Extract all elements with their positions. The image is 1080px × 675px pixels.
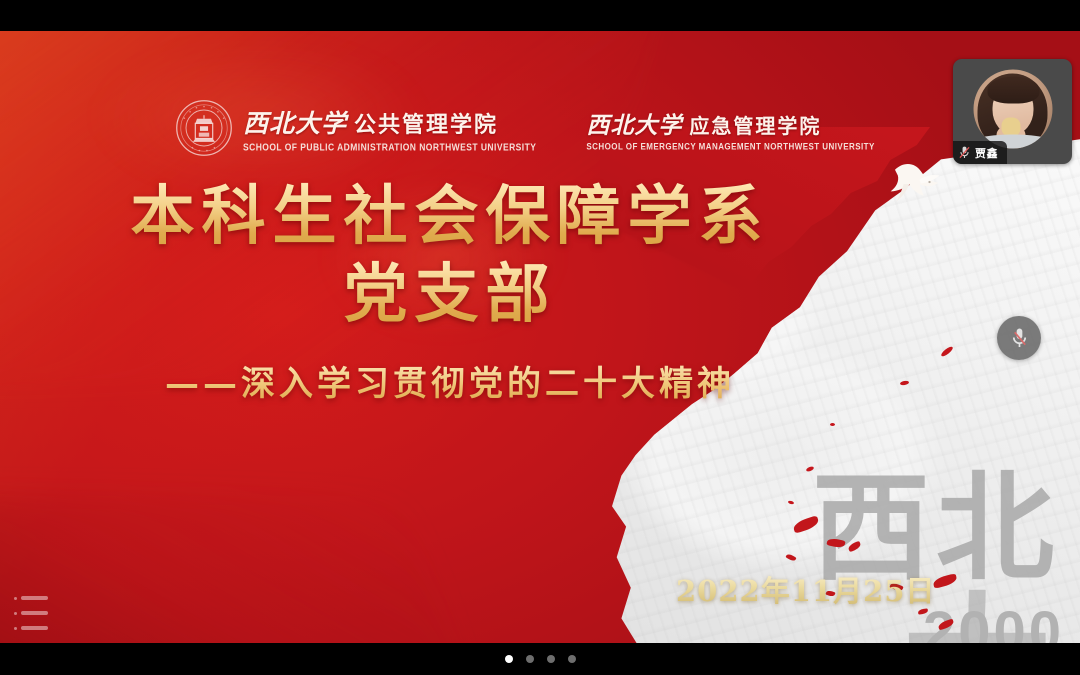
list-view-icon[interactable] [14, 596, 56, 630]
logo-english-name: SCHOOL OF PUBLIC ADMINISTRATION NORTHWES… [243, 141, 536, 153]
page-dot-active[interactable] [505, 655, 513, 663]
page-dot[interactable] [547, 655, 555, 663]
logo-university-name: 西北大学 [243, 104, 347, 140]
screen-root: 西北 大 2000 [0, 0, 1080, 675]
self-view-tile[interactable]: 贾鑫 [953, 59, 1072, 164]
mic-toggle-button[interactable] [997, 316, 1041, 360]
participant-name: 贾鑫 [975, 145, 998, 161]
page-dot[interactable] [568, 655, 576, 663]
avatar [973, 70, 1052, 149]
avatar-fringe [987, 76, 1039, 103]
dove-icon [882, 151, 954, 213]
logo-english-name: SCHOOL OF EMERGENCY MANAGEMENT NORTHWEST… [586, 141, 874, 151]
list-icon-row [14, 611, 56, 615]
slide-title-line-2: 党支部 [0, 259, 900, 331]
slide-subtitle: ——深入学习贯彻党的二十大精神 [0, 356, 900, 405]
logo-public-administration: 西北大学 公共管理学院 SCHOOL OF PUBLIC ADMINISTRAT… [175, 99, 536, 157]
university-seal-icon [175, 99, 233, 157]
logo-school-name: 应急管理学院 [689, 110, 821, 139]
page-indicator-dots[interactable] [0, 655, 1080, 663]
logo-university-name: 西北大学 [586, 106, 682, 140]
slide-title-line-1: 本科生社会保障学系 [0, 181, 900, 253]
list-icon-row [14, 596, 56, 600]
avatar-food [1001, 117, 1020, 136]
logo-school-name: 公共管理学院 [354, 107, 498, 139]
list-icon-row [14, 626, 56, 630]
slide-date: 2022年11月25日 [676, 568, 935, 610]
presentation-slide[interactable]: 西北 大 2000 [0, 31, 1080, 643]
slide-title-group: 本科生社会保障学系 党支部 ——深入学习贯彻党的二十大精神 [0, 181, 900, 405]
page-dot[interactable] [526, 655, 534, 663]
participant-name-chip: 贾鑫 [953, 141, 1007, 164]
microphone-muted-icon [1010, 326, 1029, 350]
ink-splatter-fleck [830, 423, 835, 426]
logo-text-group: 西北大学 公共管理学院 SCHOOL OF PUBLIC ADMINISTRAT… [243, 104, 536, 152]
microphone-muted-icon [958, 145, 971, 160]
logo-row: 西北大学 公共管理学院 SCHOOL OF PUBLIC ADMINISTRAT… [175, 99, 875, 157]
logo-emergency-management: 西北大学 应急管理学院 SCHOOL OF EMERGENCY MANAGEME… [586, 106, 874, 151]
logo-text-group: 西北大学 应急管理学院 SCHOOL OF EMERGENCY MANAGEME… [586, 106, 874, 151]
